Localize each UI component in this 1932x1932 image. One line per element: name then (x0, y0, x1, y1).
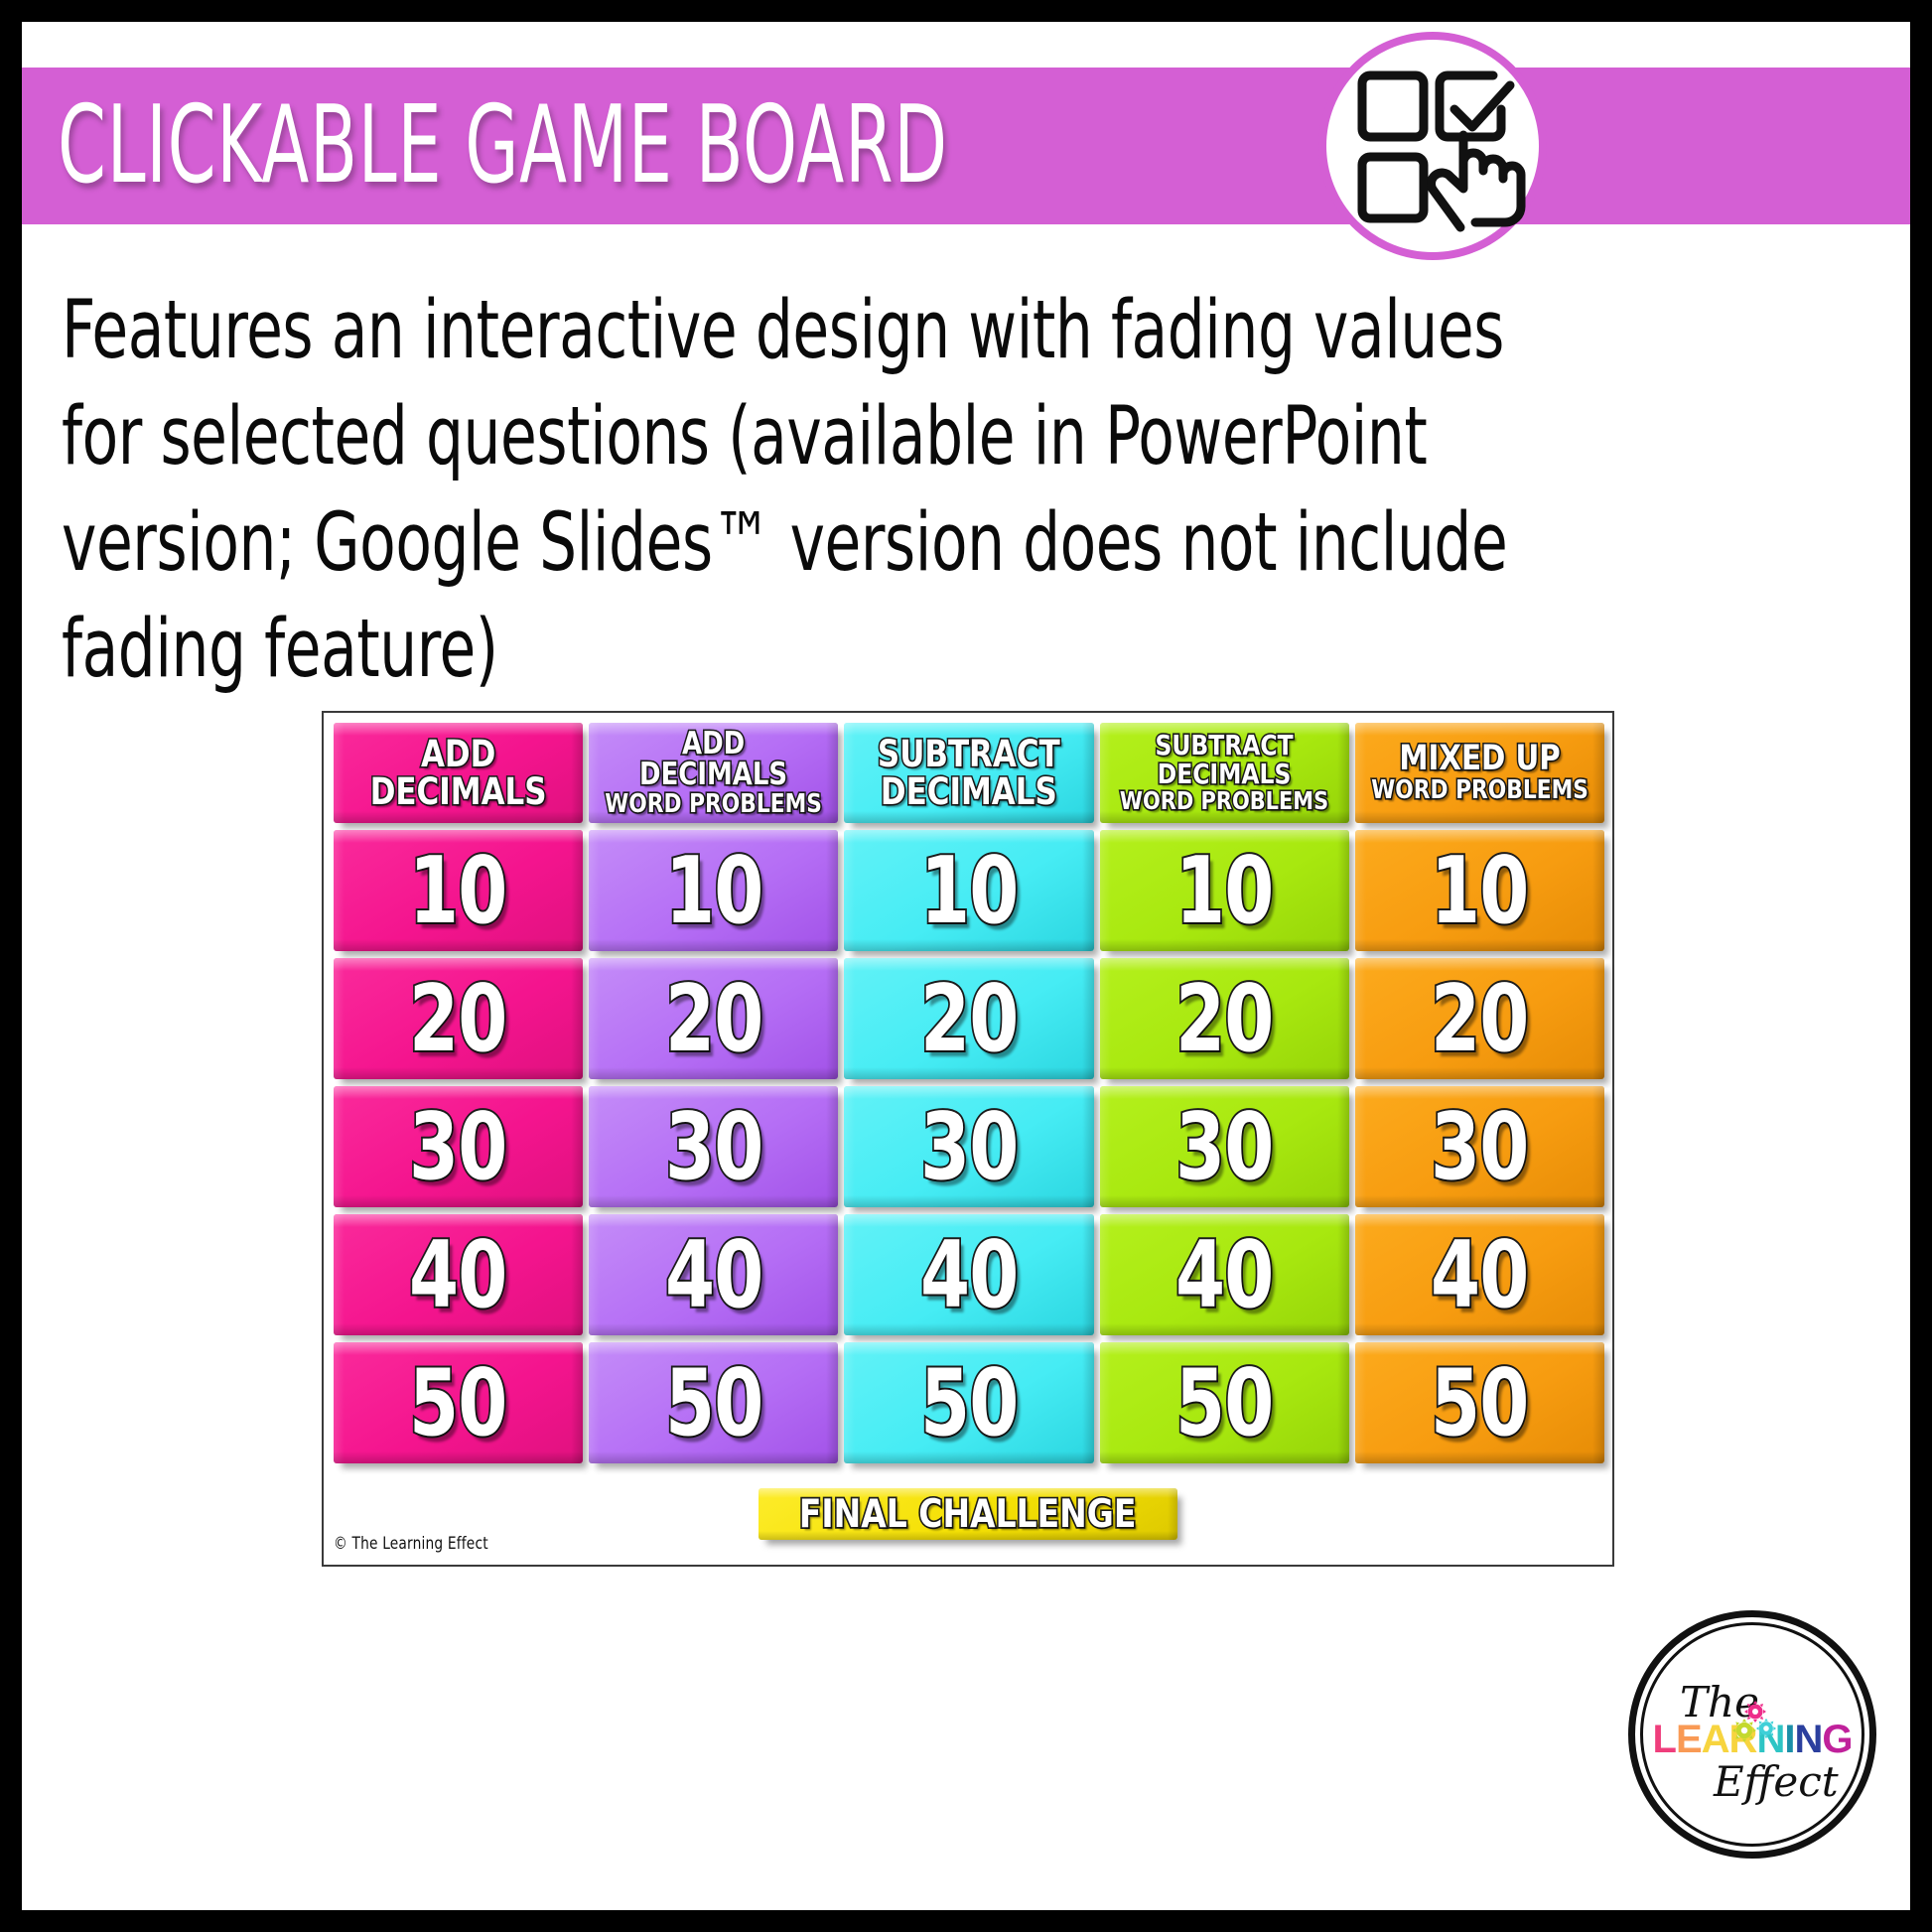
clickable-grid-hand-icon (1318, 32, 1547, 260)
point-tile[interactable]: 50 (334, 1342, 583, 1463)
logo-effect-text: Effect (1714, 1757, 1839, 1806)
point-value: 40 (920, 1229, 1018, 1321)
logo-letter: A (1702, 1718, 1729, 1761)
category-line: SUBTRACT (878, 736, 1060, 773)
point-value: 40 (1431, 1229, 1528, 1321)
point-value: 10 (1175, 845, 1273, 937)
brand-logo: The LEARNING Effect (1628, 1610, 1876, 1859)
point-tile[interactable]: 20 (589, 958, 838, 1079)
point-tile[interactable]: 10 (1100, 830, 1349, 951)
category-line: ADD (370, 736, 547, 773)
category-header-mixed-up-word-problems[interactable]: MIXED UP WORD PROBLEMS (1355, 723, 1604, 823)
slide-canvas: CLICKABLE GAME BOARD Features an interac… (0, 0, 1932, 1932)
point-tile[interactable]: 40 (1100, 1214, 1349, 1335)
final-challenge-row: FINAL CHALLENGE (324, 1488, 1612, 1540)
logo-letter: I (1784, 1718, 1794, 1761)
point-tile[interactable]: 20 (1100, 958, 1349, 1079)
category-line: DECIMALS (605, 759, 822, 791)
point-tile[interactable]: 10 (1355, 830, 1604, 951)
point-tile[interactable]: 20 (844, 958, 1093, 1079)
point-tile[interactable]: 40 (334, 1214, 583, 1335)
point-value: 10 (665, 845, 762, 937)
category-line: WORD PROBLEMS (605, 791, 822, 818)
point-value: 20 (665, 973, 762, 1065)
point-value: 30 (665, 1101, 762, 1193)
point-tile[interactable]: 10 (844, 830, 1093, 951)
point-tile[interactable]: 30 (1100, 1086, 1349, 1207)
final-challenge-button[interactable]: FINAL CHALLENGE (759, 1488, 1177, 1540)
point-value: 20 (409, 973, 506, 1065)
point-tile[interactable]: 40 (589, 1214, 838, 1335)
point-value: 50 (1175, 1357, 1273, 1449)
category-header-subtract-decimals-word-problems[interactable]: SUBTRACT DECIMALS WORD PROBLEMS (1100, 723, 1349, 823)
point-tile[interactable]: 10 (334, 830, 583, 951)
point-value: 50 (920, 1357, 1018, 1449)
category-header-add-decimals-word-problems[interactable]: ADD DECIMALS WORD PROBLEMS (589, 723, 838, 823)
point-value: 40 (665, 1229, 762, 1321)
point-value: 30 (920, 1101, 1018, 1193)
category-line: DECIMALS (1120, 760, 1328, 789)
category-line: DECIMALS (878, 773, 1060, 811)
board-copyright: © The Learning Effect (334, 1534, 488, 1554)
point-value: 40 (409, 1229, 506, 1321)
category-line: WORD PROBLEMS (1120, 788, 1328, 814)
point-value: 50 (1431, 1357, 1528, 1449)
category-line: ADD (605, 729, 822, 760)
point-value: 10 (409, 845, 506, 937)
point-value: 10 (1431, 845, 1528, 937)
point-value: 10 (920, 845, 1018, 937)
point-value: 50 (665, 1357, 762, 1449)
point-tile[interactable]: 40 (844, 1214, 1093, 1335)
point-tile[interactable]: 50 (1100, 1342, 1349, 1463)
logo-letter: L (1653, 1718, 1676, 1761)
category-line: WORD PROBLEMS (1371, 777, 1588, 804)
slide-inner: CLICKABLE GAME BOARD Features an interac… (22, 22, 1910, 1910)
point-tile[interactable]: 20 (334, 958, 583, 1079)
description-text: Features an interactive design with fadi… (62, 278, 1592, 703)
point-tile[interactable]: 20 (1355, 958, 1604, 1079)
point-value: 20 (920, 973, 1018, 1065)
logo-letter: G (1822, 1718, 1852, 1761)
point-tile[interactable]: 10 (589, 830, 838, 951)
header-banner: CLICKABLE GAME BOARD (22, 68, 1910, 224)
point-tile[interactable]: 50 (589, 1342, 838, 1463)
point-value: 30 (409, 1101, 506, 1193)
point-value: 30 (1175, 1101, 1273, 1193)
game-board: ADD DECIMALS ADD DECIMALS WORD PROBLEMS … (322, 711, 1614, 1567)
point-value: 30 (1431, 1101, 1528, 1193)
page-title: CLICKABLE GAME BOARD (58, 92, 948, 200)
point-tile[interactable]: 30 (844, 1086, 1093, 1207)
logo-letter: N (1794, 1718, 1822, 1761)
category-line: SUBTRACT (1120, 732, 1328, 760)
game-board-grid: ADD DECIMALS ADD DECIMALS WORD PROBLEMS … (334, 723, 1604, 1463)
point-tile[interactable]: 40 (1355, 1214, 1604, 1335)
point-value: 50 (409, 1357, 506, 1449)
logo-letter: E (1676, 1718, 1702, 1761)
point-value: 20 (1175, 973, 1273, 1065)
point-tile[interactable]: 30 (334, 1086, 583, 1207)
point-value: 20 (1431, 973, 1528, 1065)
category-header-add-decimals[interactable]: ADD DECIMALS (334, 723, 583, 823)
gear-icon (1755, 1718, 1777, 1739)
point-value: 40 (1175, 1229, 1273, 1321)
category-line: MIXED UP (1371, 742, 1588, 777)
category-header-subtract-decimals[interactable]: SUBTRACT DECIMALS (844, 723, 1093, 823)
point-tile[interactable]: 30 (1355, 1086, 1604, 1207)
point-tile[interactable]: 50 (844, 1342, 1093, 1463)
category-line: DECIMALS (370, 773, 547, 811)
gear-icon (1731, 1718, 1757, 1743)
point-tile[interactable]: 50 (1355, 1342, 1604, 1463)
point-tile[interactable]: 30 (589, 1086, 838, 1207)
final-challenge-label: FINAL CHALLENGE (799, 1492, 1137, 1537)
